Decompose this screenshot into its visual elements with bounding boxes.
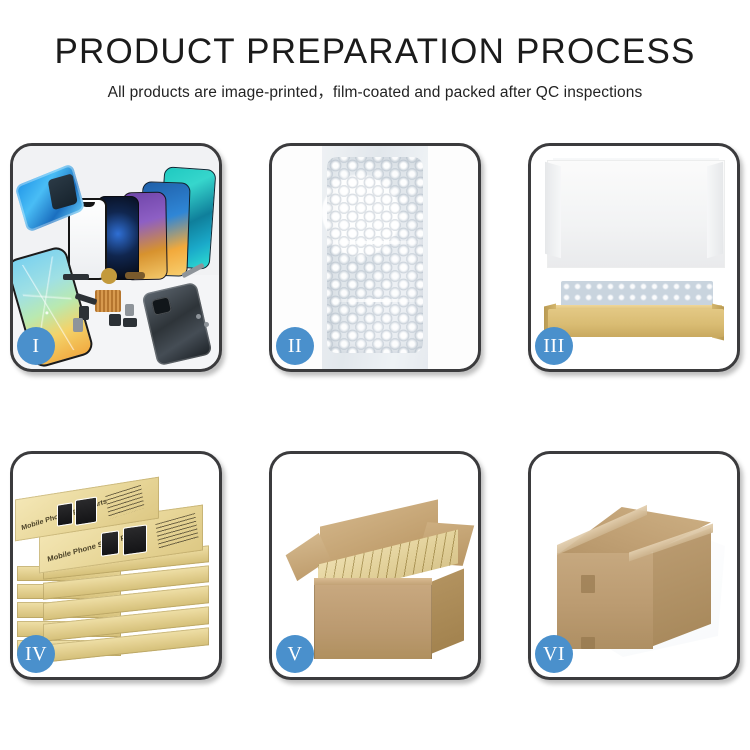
- box-lid-flap-right: [707, 162, 723, 259]
- carton-side-panel: [432, 569, 464, 654]
- box-product-photo: [123, 524, 147, 555]
- carton-handle-tab: [581, 575, 595, 593]
- page-title: PRODUCT PREPARATION PROCESS: [0, 32, 750, 72]
- box-product-photo: [75, 496, 97, 525]
- step-badge-5: V: [276, 635, 314, 673]
- bubble-wrap-image: II: [272, 146, 478, 369]
- copper-shield-icon: [95, 290, 121, 312]
- step-badge-2: II: [276, 327, 314, 365]
- product-preparation-infographic: PRODUCT PREPARATION PROCESS All products…: [0, 0, 750, 750]
- step-panel-5[interactable]: V: [269, 451, 481, 680]
- charging-port-icon: [123, 318, 137, 327]
- header: PRODUCT PREPARATION PROCESS All products…: [0, 32, 750, 102]
- box-spec-lines: [105, 485, 144, 519]
- antenna-strip-icon: [63, 274, 89, 280]
- bubble-wrap-pouch: [327, 157, 423, 353]
- step-panel-4[interactable]: Mobile Phone Spare Parts Mobile Phone Sp…: [10, 451, 222, 680]
- pouch-seam-icon: [331, 299, 419, 302]
- pouch-seam-icon: [331, 241, 419, 244]
- flex-cable-icon: [125, 272, 145, 279]
- step-panel-3[interactable]: III: [528, 143, 740, 372]
- step-badge-3: III: [535, 327, 573, 365]
- screw-icon: [196, 314, 201, 319]
- phone-parts-image: I: [13, 146, 219, 369]
- speaker-module-icon: [101, 268, 117, 284]
- sim-tray-icon: [125, 304, 134, 316]
- box-spec-lines: [155, 513, 198, 549]
- phone-back-housing-icon: [141, 282, 212, 367]
- step-badge-4: IV: [17, 635, 55, 673]
- box-product-photo: [101, 530, 119, 557]
- step-badge-1: I: [17, 327, 55, 365]
- page-subtitle: All products are image-printed，film-coat…: [0, 80, 750, 102]
- vibrator-icon: [109, 314, 121, 326]
- sealed-carton-image: VI: [531, 454, 737, 677]
- carton-rim: [314, 578, 432, 585]
- carton-fold-line: [314, 585, 315, 659]
- box-stack-image: Mobile Phone Spare Parts Mobile Phone Sp…: [13, 454, 219, 677]
- step-panel-2[interactable]: II: [269, 143, 481, 372]
- inner-box-image: III: [531, 146, 737, 369]
- carton-packing-image: V: [272, 454, 478, 677]
- carton-fold-line: [431, 585, 432, 659]
- bubble-pattern: [327, 157, 423, 353]
- box-kraft-front: [548, 309, 724, 337]
- box-lid-flap-left: [545, 162, 561, 259]
- box-product-photo: [57, 502, 73, 527]
- sensor-icon: [73, 318, 83, 332]
- step-panel-1[interactable]: I: [10, 143, 222, 372]
- step-badge-6: VI: [535, 635, 573, 673]
- steps-grid: I II: [10, 143, 740, 680]
- box-white-lid: [547, 160, 725, 268]
- carton-front-panel: [314, 585, 432, 659]
- step-panel-6[interactable]: VI: [528, 451, 740, 680]
- screw-icon: [204, 322, 209, 327]
- carton-front-panel: [557, 553, 653, 649]
- carton-handle-tab: [581, 637, 595, 649]
